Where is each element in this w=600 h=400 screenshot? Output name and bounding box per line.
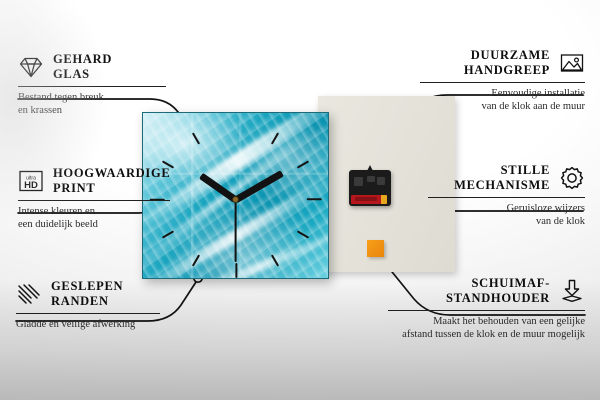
feature-description: Eenvoudige installatievan de klok aan de… [420,87,585,113]
diamond-icon [18,54,44,80]
feature-gehard-glas: GEHARDGLAS Bestand tegen breuken krassen [18,52,178,117]
feature-divider [428,197,585,198]
feature-description: Intense kleuren eneen duidelijk beeld [18,205,183,231]
diagonal-lines-icon [16,281,42,307]
mechanism-slot [377,177,385,185]
feature-title: GEHARDGLAS [53,52,112,81]
clock-center-hub [232,196,239,203]
feature-divider [18,86,166,87]
feature-stille-mechanisme: STILLEMECHANISME Geruisloze wijzersvan d… [428,163,585,228]
feature-title: GESLEPENRANDEN [51,279,123,308]
ultra-hd-icon: ultra HD [18,168,44,194]
feature-title: HOOGWAARDIGEPRINT [53,166,170,195]
feature-divider [18,200,170,201]
battery [351,195,387,204]
clock-mechanism [349,170,391,206]
mechanism-slot [354,177,363,186]
feature-description: Maakt het behouden van een gelijkeafstan… [388,315,585,341]
press-down-arrow-icon [559,278,585,304]
clock-second-hand [235,200,237,262]
svg-text:HD: HD [24,180,38,191]
feature-duurzame-handgreep: DUURZAMEHANDGREEP Eenvoudige installatie… [420,48,585,113]
feature-description: Bestand tegen breuken krassen [18,91,178,117]
feature-divider [388,310,585,311]
feature-divider [16,313,160,314]
feature-title: SCHUIMAF-STANDHOUDER [446,276,550,305]
mechanism-slot [367,176,375,182]
feature-description: Geruisloze wijzersvan de klok [428,202,585,228]
feature-hoogwaardige-print: ultra HD HOOGWAARDIGEPRINT Intense kleur… [18,166,183,231]
feature-title: STILLEMECHANISME [454,163,550,192]
feature-schuimafstandhouder: SCHUIMAF-STANDHOUDER Maakt het behouden … [388,276,585,341]
foam-spacer [367,240,384,257]
gear-icon [559,165,585,191]
picture-frame-icon [559,50,585,76]
feature-title: DUURZAMEHANDGREEP [464,48,550,77]
feature-description: Gladde en veilige afwerking [16,318,168,331]
infographic-canvas: GEHARDGLAS Bestand tegen breuken krassen… [0,0,600,400]
feature-geslepen-randen: GESLEPENRANDEN Gladde en veilige afwerki… [16,279,168,331]
feature-divider [420,82,585,83]
